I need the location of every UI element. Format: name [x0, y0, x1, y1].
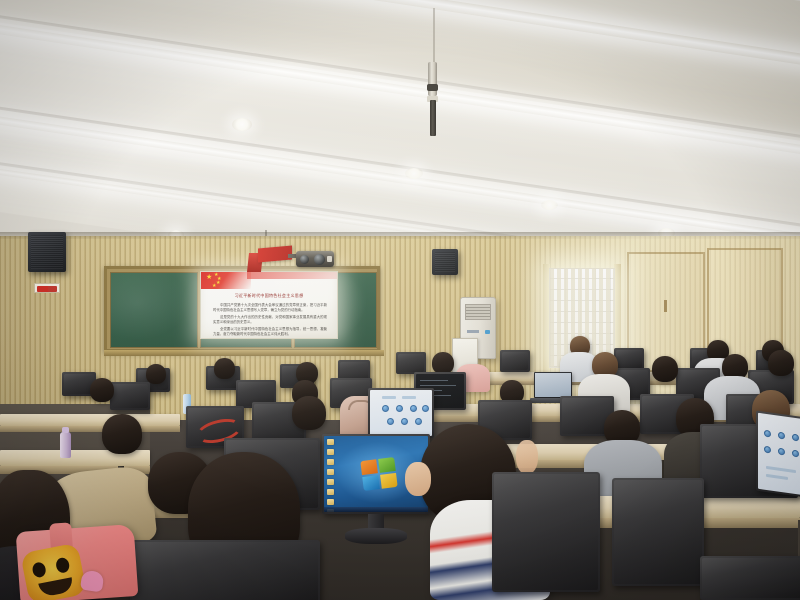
- student-head: [90, 378, 114, 402]
- chalkboard-panel-left: [110, 272, 198, 348]
- red-flag-banner: [258, 246, 292, 263]
- flag-star-large: ★: [206, 275, 212, 280]
- desktop-icon: [327, 449, 334, 455]
- monitor-login-screen[interactable]: [368, 388, 434, 438]
- chalk-ledge: [104, 350, 384, 356]
- desktop-icon: [327, 489, 334, 495]
- flag-star-small: ★: [212, 284, 216, 289]
- student-head: [768, 350, 794, 376]
- chair-back: [700, 556, 800, 600]
- ceiling-downlight: [405, 168, 423, 179]
- wall-notice-sign: [34, 283, 60, 293]
- ac-logo: [467, 330, 479, 333]
- desk-row-4-left: [0, 414, 180, 426]
- student-head: [146, 364, 166, 384]
- chair-back: [130, 540, 320, 600]
- login-icon-grid-screen: [370, 390, 432, 436]
- laptop-screen[interactable]: [534, 372, 572, 398]
- monitor-foreground-back: [612, 478, 704, 586]
- slide-paragraph: 中国共产党第十九次全国代表大会审议通过的党章修正案，把习近平新时代中国特色社会主…: [213, 303, 327, 313]
- pink-heart-charm: [80, 570, 105, 593]
- monitor: [500, 350, 530, 372]
- ceiling-projector-camera: [296, 251, 334, 267]
- projector-pole-joint: [427, 84, 438, 91]
- device-indicator: [327, 256, 332, 262]
- classroom-photo: ★ ★ ★ ★ ★ 习近平新时代中国特色社会主义思想 中国共产党第十九次全国代表…: [0, 0, 800, 600]
- desk-edge: [0, 426, 180, 432]
- slide-title: 习近平新时代中国特色社会主义思想: [201, 293, 337, 299]
- projection-screen[interactable]: ★ ★ ★ ★ ★ 习近平新时代中国特色社会主义思想 中国共产党第十九次全国代表…: [200, 271, 338, 339]
- cartoon-face-print: [20, 543, 87, 600]
- desktop-icon: [327, 459, 334, 465]
- desktop-icon: [327, 469, 334, 475]
- chinese-flag-graphic: ★ ★ ★ ★ ★: [201, 272, 251, 289]
- monitor: [110, 382, 150, 410]
- camera-lens-icon: [300, 255, 309, 264]
- wall-speaker-right: [432, 249, 458, 275]
- projector-lens-icon: [314, 254, 325, 265]
- projector-pole-wire: [433, 8, 435, 66]
- icon-grid-screen: [758, 413, 800, 495]
- cartoon-mouth: [38, 577, 74, 597]
- student-head: [292, 396, 326, 430]
- student-head: [102, 414, 142, 454]
- desktop-icon: [327, 499, 334, 505]
- desktop-icon: [327, 439, 334, 445]
- desktop-icons[interactable]: [327, 439, 334, 512]
- ac-status-led: [485, 330, 490, 334]
- monitor-angled-right[interactable]: [756, 410, 800, 497]
- cartoon-eye: [31, 561, 47, 578]
- slide-body-text: 中国共产党第十九次全国代表大会审议通过的党章修正案，把习近平新时代中国特色社会主…: [213, 303, 327, 339]
- door-handle[interactable]: [664, 300, 667, 312]
- water-bottle: [60, 432, 71, 458]
- pink-tote-bag: [16, 524, 139, 600]
- windows-logo-icon: [360, 457, 397, 491]
- ceiling: [0, 0, 800, 252]
- desktop-icon: [327, 479, 334, 485]
- slide-paragraph: 这是党的十九大作出的历史性贡献，对党和国家事业发展具有重大的现实意义和深远的历史…: [213, 315, 327, 325]
- monitor-stand-base: [345, 528, 407, 544]
- student-head: [432, 352, 454, 374]
- student-hand: [405, 462, 431, 496]
- chair-back: [492, 472, 600, 592]
- monitor: [614, 348, 644, 370]
- student-head: [652, 356, 678, 382]
- ceiling-downlight: [232, 118, 252, 131]
- ac-vent: [465, 304, 491, 320]
- slide-header-band: [247, 272, 338, 279]
- student-head: [214, 358, 235, 379]
- slide-paragraph: 全党要以习近平新时代中国特色社会主义思想为指导，统一思想、凝聚力量，奋力夺取新时…: [213, 327, 327, 337]
- projector-pole-stem: [430, 100, 436, 136]
- cartoon-eye: [55, 557, 71, 574]
- monitor: [396, 352, 426, 374]
- windows-taskbar[interactable]: [324, 507, 428, 512]
- ceiling-downlight: [541, 200, 558, 210]
- flag-star-small: ★: [216, 281, 220, 286]
- wall-speaker-left: [28, 232, 66, 272]
- student-ear: [516, 440, 538, 474]
